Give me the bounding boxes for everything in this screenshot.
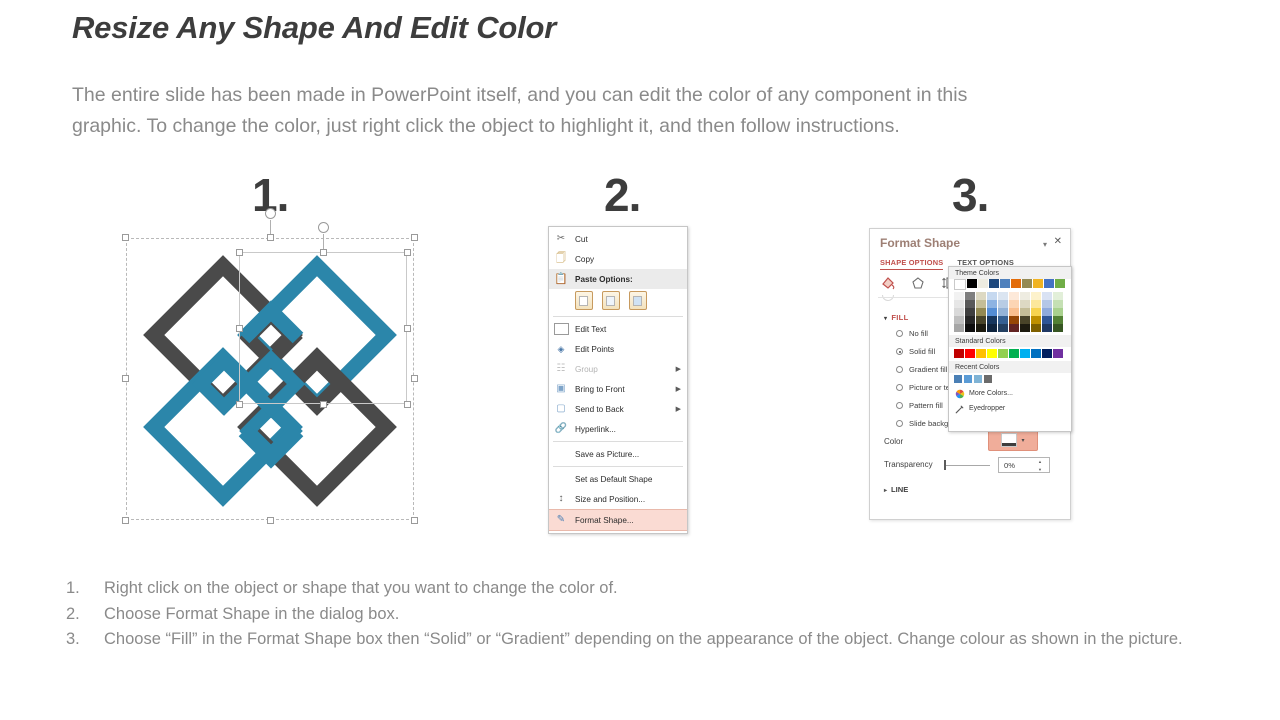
theme-color-swatch-5[interactable]: [1011, 279, 1021, 288]
transparency-input[interactable]: 0% ▲▼: [998, 457, 1050, 473]
context-menu-item-format-shape[interactable]: ✎ Format Shape...: [549, 509, 687, 531]
context-menu-item-cut[interactable]: ✂ Cut: [549, 229, 687, 249]
page-subtitle-line-2: graphic. To change the color, just right…: [72, 111, 1212, 142]
effects-icon[interactable]: [910, 275, 926, 291]
radio-label: Solid fill: [909, 347, 935, 356]
theme-color-swatch-2-3[interactable]: [976, 316, 986, 324]
format-shape-title: Format Shape: [880, 236, 960, 250]
submenu-arrow-icon: ▶: [676, 405, 683, 413]
theme-color-swatch-6-3[interactable]: [1020, 316, 1030, 324]
theme-color-swatch-7-1[interactable]: [1031, 300, 1041, 308]
shape-illustration-panel: [126, 238, 414, 520]
context-menu-item-save-as-picture[interactable]: Save as Picture...: [549, 444, 687, 464]
context-menu-item-edit-points[interactable]: ◈ Edit Points: [549, 339, 687, 359]
format-shape-icon-row[interactable]: [880, 275, 956, 291]
theme-color-swatch-5-3[interactable]: [1009, 316, 1019, 324]
rotation-stem-inner: [323, 234, 324, 249]
chevron-down-icon[interactable]: ▾: [1043, 240, 1047, 249]
theme-color-swatch-3-1[interactable]: [987, 300, 997, 308]
selection-handle-inner-w[interactable]: [236, 325, 243, 332]
theme-color-swatch-9[interactable]: [1055, 279, 1065, 288]
context-menu-item-send-to-back[interactable]: ▢ Send to Back ▶: [549, 399, 687, 419]
radio-no-fill[interactable]: No fill: [896, 329, 928, 338]
standard-color-swatch-9[interactable]: [1053, 349, 1063, 358]
theme-color-column-7: [1031, 292, 1041, 332]
theme-color-swatch-0[interactable]: [954, 279, 966, 290]
spinner-arrows-icon[interactable]: ▲▼: [1038, 460, 1045, 472]
theme-color-swatch-9-1[interactable]: [1053, 300, 1063, 308]
theme-color-column-1: [965, 292, 975, 332]
theme-color-swatch-9-4[interactable]: [1053, 324, 1063, 332]
theme-color-swatch-9-2[interactable]: [1053, 308, 1063, 316]
context-menu-label: Send to Back: [575, 405, 676, 414]
inner-selection-box[interactable]: [239, 252, 407, 404]
theme-color-swatch-8[interactable]: [1044, 279, 1054, 288]
theme-color-swatch-1-3[interactable]: [965, 316, 975, 324]
theme-color-swatch-7-3[interactable]: [1031, 316, 1041, 324]
eyedropper-label: Eyedropper: [969, 405, 1005, 412]
instruction-item-1: 1. Right click on the object or shape th…: [66, 576, 1278, 602]
color-label: Color: [884, 437, 903, 446]
theme-color-swatch-8-3[interactable]: [1042, 316, 1052, 324]
no-icon: [553, 447, 569, 461]
theme-colors-label: Theme Colors: [949, 267, 1071, 279]
fill-line-icon[interactable]: [880, 275, 896, 291]
page-subtitle: The entire slide has been made in PowerP…: [72, 80, 1212, 142]
context-menu-item-paste-options[interactable]: 📋 Paste Options:: [549, 269, 687, 289]
submenu-arrow-icon: ▶: [676, 385, 683, 393]
selection-handle-outer-se[interactable]: [411, 517, 418, 524]
theme-color-swatch-0-4[interactable]: [954, 324, 964, 332]
paste-keep-text-icon[interactable]: [575, 291, 593, 310]
standard-color-swatch-8[interactable]: [1042, 349, 1052, 358]
selection-handle-inner-n[interactable]: [320, 249, 327, 256]
theme-color-swatch-8-1[interactable]: [1042, 300, 1052, 308]
selection-handle-outer-nw[interactable]: [122, 234, 129, 241]
theme-color-swatch-4-0[interactable]: [998, 292, 1008, 300]
standard-color-swatch-2[interactable]: [976, 349, 986, 358]
selection-handle-inner-ne[interactable]: [404, 249, 411, 256]
selection-handle-outer-sw[interactable]: [122, 517, 129, 524]
standard-color-swatch-0[interactable]: [954, 349, 964, 358]
context-menu-label: Bring to Front: [575, 385, 676, 394]
recent-color-swatch-0[interactable]: [954, 375, 962, 383]
radio-indicator: [896, 420, 903, 427]
page-title: Resize Any Shape And Edit Color: [72, 10, 556, 46]
selection-handle-outer-e[interactable]: [411, 375, 418, 382]
no-icon: [553, 472, 569, 486]
line-section-header[interactable]: ▸LINE: [884, 485, 908, 494]
transparency-slider-track[interactable]: [946, 465, 990, 466]
instruction-item-3: 3. Choose “Fill” in the Format Shape box…: [66, 627, 1278, 653]
fill-section-header[interactable]: ▾FILL: [884, 313, 909, 322]
rotation-handle-inner[interactable]: [318, 222, 329, 233]
theme-color-swatch-4[interactable]: [1000, 279, 1010, 288]
standard-color-swatch-4[interactable]: [998, 349, 1008, 358]
fill-color-icon: [1001, 433, 1017, 447]
theme-color-swatch-6-1[interactable]: [1020, 300, 1030, 308]
theme-color-swatch-9-3[interactable]: [1053, 316, 1063, 324]
submenu-arrow-icon: ▶: [676, 365, 683, 373]
context-menu-item-bring-to-front[interactable]: ▣ Bring to Front ▶: [549, 379, 687, 399]
instruction-number: 3.: [66, 627, 104, 653]
theme-color-swatch-5-4[interactable]: [1009, 324, 1019, 332]
theme-color-swatch-1-0[interactable]: [965, 292, 975, 300]
context-menu-label: Hyperlink...: [575, 425, 683, 434]
theme-color-column-9: [1053, 292, 1063, 332]
context-menu-label: Group: [575, 365, 676, 374]
theme-color-swatch-5-0[interactable]: [1009, 292, 1019, 300]
scissors-icon: ✂: [553, 232, 569, 246]
theme-color-swatch-4-2[interactable]: [998, 308, 1008, 316]
format-shape-icon: ✎: [553, 513, 569, 527]
theme-color-swatch-5-2[interactable]: [1009, 308, 1019, 316]
selection-handle-inner-e[interactable]: [404, 325, 411, 332]
theme-color-swatch-8-2[interactable]: [1042, 308, 1052, 316]
recent-color-swatch-3[interactable]: [984, 375, 992, 383]
instruction-number: 2.: [66, 602, 104, 628]
theme-color-swatch-7-0[interactable]: [1031, 292, 1041, 300]
expand-triangle-icon: ▸: [884, 488, 887, 494]
theme-color-swatch-7-2[interactable]: [1031, 308, 1041, 316]
selection-handle-outer-s[interactable]: [267, 517, 274, 524]
instruction-text: Choose Format Shape in the dialog box.: [104, 602, 1278, 628]
recent-color-swatch-2[interactable]: [974, 375, 982, 383]
transparency-value: 0%: [1004, 461, 1015, 470]
rotation-handle-outer[interactable]: [265, 208, 276, 219]
paste-keep-formatting-icon[interactable]: [602, 291, 620, 310]
more-colors-menu-item[interactable]: More Colors...: [949, 386, 1071, 401]
theme-color-column-5: [1009, 292, 1019, 332]
more-colors-label: More Colors...: [969, 390, 1013, 397]
theme-color-swatch-3-3[interactable]: [987, 316, 997, 324]
recent-colors-label: Recent Colors: [949, 361, 1071, 373]
selection-handle-inner-se[interactable]: [404, 401, 411, 408]
context-menu-label: Save as Picture...: [575, 450, 683, 459]
selection-handle-inner-s[interactable]: [320, 401, 327, 408]
instruction-text: Right click on the object or shape that …: [104, 576, 1278, 602]
theme-color-swatch-1-1[interactable]: [965, 300, 975, 308]
context-menu-item-group: ☷ Group ▶: [549, 359, 687, 379]
theme-color-swatch-2[interactable]: [978, 279, 988, 288]
clipboard-icon: 📋: [553, 272, 569, 286]
context-menu-item-size-and-position[interactable]: ↕ Size and Position...: [549, 489, 687, 509]
fill-section-label: FILL: [891, 313, 908, 322]
textbox-icon: [553, 322, 569, 336]
radio-gradient-fill[interactable]: Gradient fill: [896, 365, 947, 374]
color-picker-flyout[interactable]: Theme Colors Standard Colors Recent Colo…: [948, 266, 1072, 432]
theme-color-swatch-2-1[interactable]: [976, 300, 986, 308]
theme-color-swatch-3-0[interactable]: [987, 292, 997, 300]
radio-pattern-fill[interactable]: Pattern fill: [896, 401, 943, 410]
radio-solid-fill[interactable]: Solid fill: [896, 347, 935, 356]
rotation-stem-outer: [270, 220, 271, 234]
theme-colors-grid[interactable]: [949, 290, 1071, 335]
theme-color-swatch-6[interactable]: [1022, 279, 1032, 288]
theme-color-swatch-5-1[interactable]: [1009, 300, 1019, 308]
theme-color-swatch-6-0[interactable]: [1020, 292, 1030, 300]
theme-color-swatch-1[interactable]: [967, 279, 977, 288]
collapse-triangle-icon: ▾: [884, 316, 887, 322]
tab-shape-options[interactable]: SHAPE OPTIONS: [880, 258, 943, 270]
eyedropper-icon: [954, 403, 965, 414]
eyedropper-menu-item[interactable]: Eyedropper: [949, 401, 1071, 416]
theme-color-column-6: [1020, 292, 1030, 332]
context-menu-label: Copy: [575, 255, 683, 264]
theme-color-swatch-6-2[interactable]: [1020, 308, 1030, 316]
theme-color-swatch-0-2[interactable]: [954, 308, 964, 316]
standard-colors-label: Standard Colors: [949, 335, 1071, 347]
theme-color-swatch-8-4[interactable]: [1042, 324, 1052, 332]
theme-color-swatch-7[interactable]: [1033, 279, 1043, 288]
context-menu-item-set-as-default-shape[interactable]: Set as Default Shape: [549, 469, 687, 489]
group-icon: ☷: [553, 362, 569, 376]
context-menu-item-edit-text[interactable]: Edit Text: [549, 319, 687, 339]
send-to-back-icon: ▢: [553, 402, 569, 416]
theme-color-swatch-0-1[interactable]: [954, 300, 964, 308]
instruction-item-2: 2. Choose Format Shape in the dialog box…: [66, 602, 1278, 628]
radio-label: Gradient fill: [909, 365, 947, 374]
paste-options-icon-row[interactable]: [549, 289, 687, 314]
selection-handle-inner-sw[interactable]: [236, 401, 243, 408]
context-menu-label: Set as Default Shape: [575, 475, 683, 484]
radio-indicator: [896, 384, 903, 391]
instruction-number: 1.: [66, 576, 104, 602]
theme-color-swatch-4-3[interactable]: [998, 316, 1008, 324]
theme-color-swatch-7-4[interactable]: [1031, 324, 1041, 332]
standard-color-swatch-7[interactable]: [1031, 349, 1041, 358]
line-section-label: LINE: [891, 485, 908, 494]
radio-indicator: [896, 330, 903, 337]
theme-color-swatch-0-3[interactable]: [954, 316, 964, 324]
paste-picture-icon[interactable]: [629, 291, 647, 310]
copy-icon: 🗍: [553, 252, 569, 266]
size-position-icon: ↕: [553, 492, 569, 506]
theme-color-column-2: [976, 292, 986, 332]
instruction-list: 1. Right click on the object or shape th…: [66, 576, 1278, 653]
context-menu-separator: [553, 316, 683, 317]
chevron-down-icon[interactable]: ▾: [1021, 437, 1024, 444]
radio-label: Pattern fill: [909, 401, 943, 410]
right-click-context-menu[interactable]: ✂ Cut 🗍 Copy 📋 Paste Options: Edit Text …: [548, 226, 688, 534]
edit-points-icon: ◈: [553, 342, 569, 356]
theme-color-swatch-2-2[interactable]: [976, 308, 986, 316]
theme-color-swatch-3[interactable]: [989, 279, 999, 288]
radio-label: No fill: [909, 329, 928, 338]
step-number-2: 2.: [604, 168, 640, 222]
theme-color-swatch-6-4[interactable]: [1020, 324, 1030, 332]
standard-color-swatch-6[interactable]: [1020, 349, 1030, 358]
theme-color-swatch-4-1[interactable]: [998, 300, 1008, 308]
theme-color-swatch-2-0[interactable]: [976, 292, 986, 300]
selection-handle-outer-ne[interactable]: [411, 234, 418, 241]
radio-indicator-selected: [896, 348, 903, 355]
theme-color-swatch-0-0[interactable]: [954, 292, 964, 300]
context-menu-label: Format Shape...: [575, 516, 683, 525]
context-menu-separator: [553, 466, 683, 467]
theme-color-swatch-1-4[interactable]: [965, 324, 975, 332]
theme-color-swatch-3-2[interactable]: [987, 308, 997, 316]
selection-handle-outer-n[interactable]: [267, 234, 274, 241]
context-menu-label: Edit Text: [575, 325, 683, 334]
theme-color-swatch-2-4[interactable]: [976, 324, 986, 332]
context-menu-label: Cut: [575, 235, 683, 244]
theme-color-column-4: [998, 292, 1008, 332]
theme-color-swatch-4-4[interactable]: [998, 324, 1008, 332]
radio-indicator: [896, 402, 903, 409]
standard-color-swatch-3[interactable]: [987, 349, 997, 358]
theme-color-column-3: [987, 292, 997, 332]
close-icon[interactable]: ✕: [1054, 237, 1062, 247]
page-subtitle-line-1: The entire slide has been made in PowerP…: [72, 84, 967, 106]
selection-handle-outer-w[interactable]: [122, 375, 129, 382]
selection-handle-inner-nw[interactable]: [236, 249, 243, 256]
bring-to-front-icon: ▣: [553, 382, 569, 396]
context-menu-separator: [553, 441, 683, 442]
fill-color-button[interactable]: ▾: [988, 429, 1038, 451]
context-menu-label: Edit Points: [575, 345, 683, 354]
theme-colors-top-row[interactable]: [949, 279, 1071, 290]
context-menu-item-hyperlink[interactable]: 🔗 Hyperlink...: [549, 419, 687, 439]
step-number-3: 3.: [952, 168, 988, 222]
theme-color-column-0: [954, 292, 964, 332]
standard-colors-row[interactable]: [949, 347, 1071, 361]
theme-color-column-8: [1042, 292, 1052, 332]
transparency-label: Transparency: [884, 460, 933, 469]
recent-color-swatch-1[interactable]: [964, 375, 972, 383]
theme-color-swatch-1-2[interactable]: [965, 308, 975, 316]
recent-colors-row[interactable]: [949, 373, 1071, 386]
radio-indicator: [896, 366, 903, 373]
instruction-text: Choose “Fill” in the Format Shape box th…: [104, 627, 1278, 653]
context-menu-item-copy[interactable]: 🗍 Copy: [549, 249, 687, 269]
theme-color-swatch-3-4[interactable]: [987, 324, 997, 332]
hyperlink-icon: 🔗: [553, 422, 569, 436]
context-menu-label: Size and Position...: [575, 495, 683, 504]
standard-color-swatch-5[interactable]: [1009, 349, 1019, 358]
theme-color-swatch-9-0[interactable]: [1053, 292, 1063, 300]
theme-color-swatch-8-0[interactable]: [1042, 292, 1052, 300]
standard-color-swatch-1[interactable]: [965, 349, 975, 358]
color-wheel-icon: [954, 388, 965, 399]
context-menu-label: Paste Options:: [575, 275, 683, 284]
